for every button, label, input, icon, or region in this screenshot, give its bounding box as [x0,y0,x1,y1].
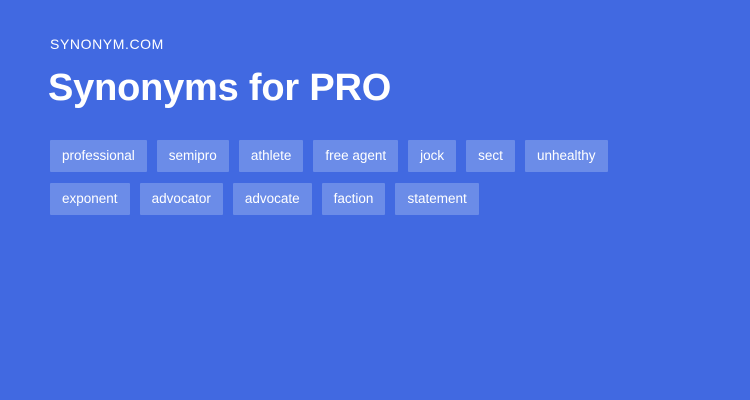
synonym-chip[interactable]: advocate [233,183,312,215]
synonym-chip[interactable]: statement [395,183,478,215]
synonym-chip[interactable]: athlete [239,140,304,172]
synonym-chip[interactable]: professional [50,140,147,172]
synonym-result-page: SYNONYM.COM Synonyms for PRO professiona… [0,0,750,400]
synonym-chip[interactable]: sect [466,140,515,172]
synonym-chip[interactable]: jock [408,140,456,172]
synonym-chip[interactable]: free agent [313,140,398,172]
synonym-chip[interactable]: unhealthy [525,140,608,172]
synonym-row-1: professional semipro athlete free agent … [50,140,710,172]
synonym-chip-list: professional semipro athlete free agent … [50,140,710,226]
synonym-row-2: exponent advocator advocate faction stat… [50,183,710,215]
synonym-chip[interactable]: semipro [157,140,229,172]
synonym-chip[interactable]: advocator [140,183,223,215]
synonym-chip[interactable]: exponent [50,183,130,215]
synonym-chip[interactable]: faction [322,183,386,215]
page-title: Synonyms for PRO [48,66,391,110]
site-brand-label: SYNONYM.COM [50,36,164,52]
